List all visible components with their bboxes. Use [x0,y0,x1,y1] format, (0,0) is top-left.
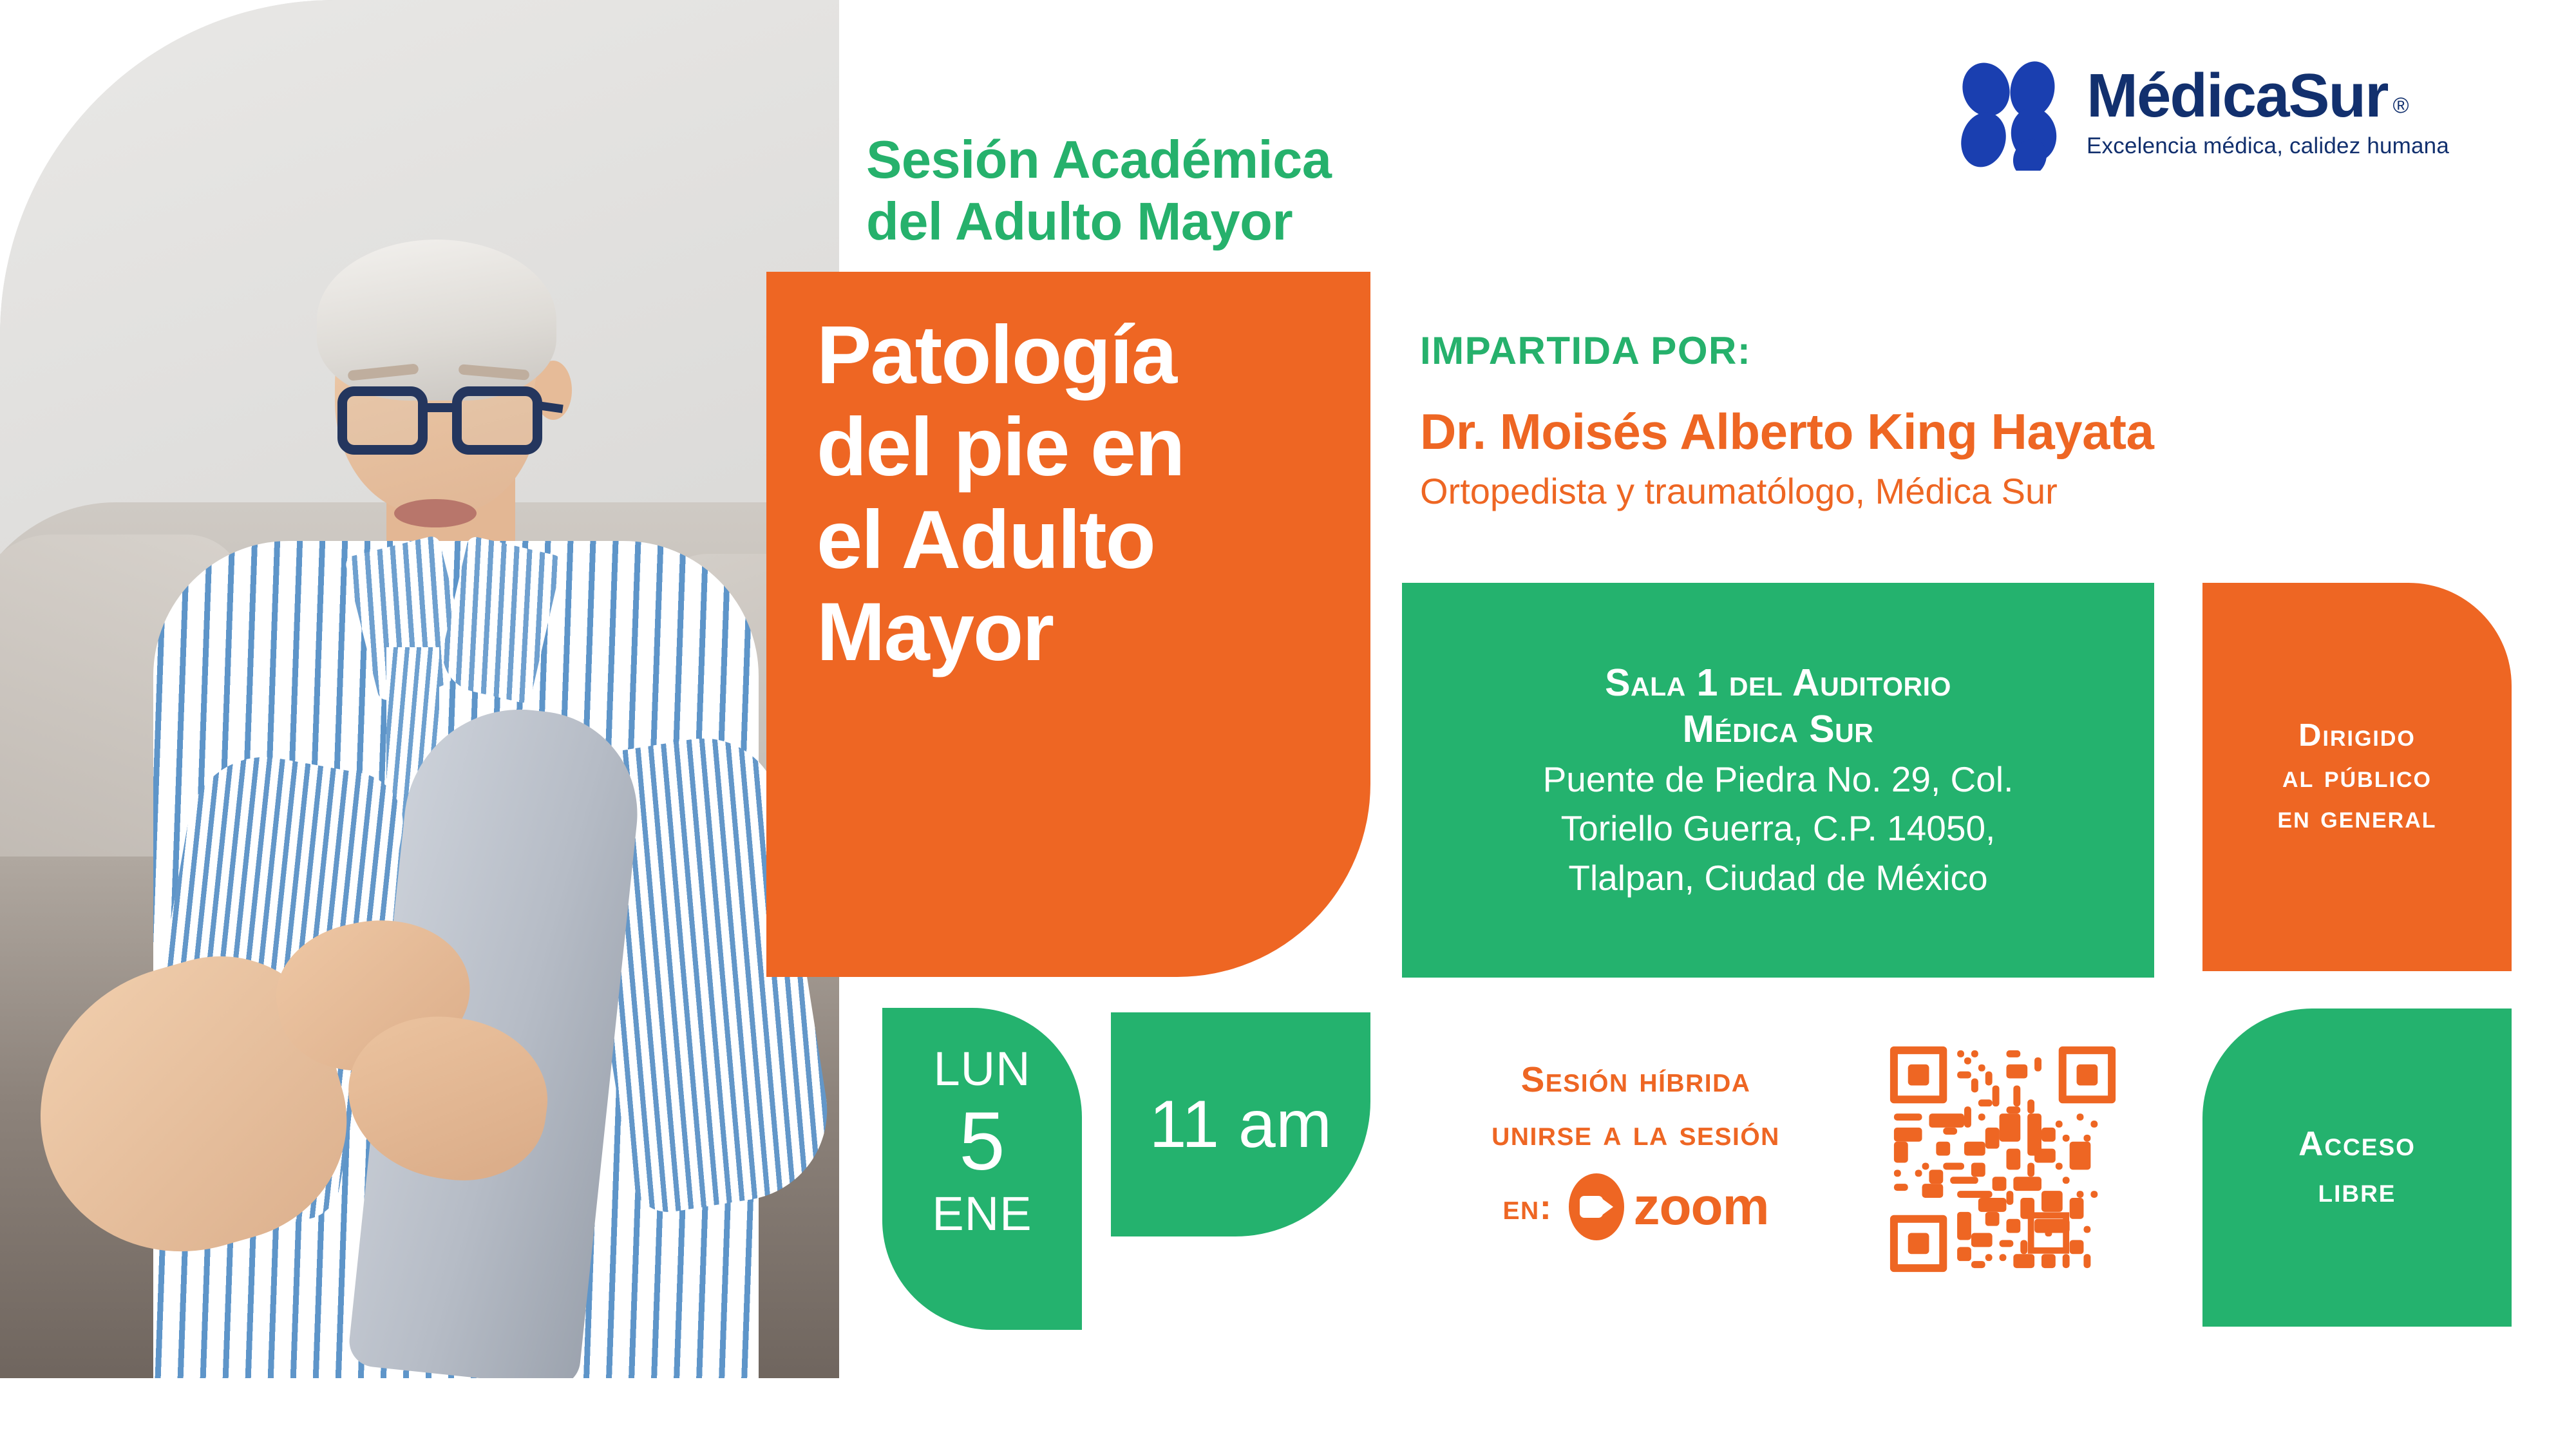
event-title-line-2: del pie en [817,401,1338,493]
zoom-row: en: zoom [1423,1173,1848,1240]
photo-lens-right [452,386,542,455]
hybrid-session-block: Sesión híbrida unirse a la sesión en: zo… [1423,1053,1848,1240]
series-title-line-1: Sesión Académica [866,129,1433,191]
audience-box: Dirigido al público en general [2202,583,2512,971]
access-text-block: Acceso libre [2298,1121,2416,1213]
event-title-line-3: el Adulto [817,494,1338,586]
series-title-line-2: del Adulto Mayor [866,191,1433,252]
zoom-logo[interactable]: zoom [1569,1173,1768,1240]
date-month: ENE [882,1190,1082,1238]
camera-lens [1601,1198,1613,1216]
hybrid-line-1: Sesión híbrida [1423,1053,1848,1106]
venue-address-line-1: Puente de Piedra No. 29, Col. [1424,757,2132,802]
venue-room-line-1: Sala 1 del Auditorio [1424,660,2132,706]
camera-glyph [1580,1196,1613,1218]
date-badge: LUN 5 ENE [882,1008,1082,1330]
qr-code-icon[interactable] [1887,1043,2119,1275]
hybrid-prefix: en: [1502,1186,1552,1227]
time-badge: 11 am [1111,1012,1370,1236]
logo-wordmark: MédicaSur [2087,65,2387,127]
zoom-wordmark: zoom [1633,1177,1768,1237]
zoom-camera-icon [1569,1173,1624,1240]
photo-eyeglasses [337,386,545,457]
audience-line-1: Dirigido [2277,715,2436,757]
speaker-name: Dr. Moisés Alberto King Hayata [1420,402,2193,461]
venue-text-block: Sala 1 del Auditorio Médica Sur Puente d… [1402,660,2154,900]
time-value: 11 am [1150,1086,1332,1163]
venue-address-line-2: Toriello Guerra, C.P. 14050, [1424,806,2132,851]
four-petal-flower-icon [1958,61,2067,171]
speaker-label: IMPARTIDA POR: [1420,328,1751,373]
speaker-role: Ortopedista y traumatólogo, Médica Sur [1420,470,2193,512]
audience-text-block: Dirigido al público en general [2266,715,2448,838]
access-box: Acceso libre [2202,1009,2512,1327]
venue-box: Sala 1 del Auditorio Médica Sur Puente d… [1402,583,2154,978]
hybrid-line-2[interactable]: unirse a la sesión [1423,1106,1848,1160]
logo-tagline: Excelencia médica, calidez humana [2087,133,2512,159]
access-line-2: libre [2298,1168,2416,1214]
audience-line-3: en general [2277,797,2436,838]
photo-lens-left [337,386,428,455]
date-day-number: 5 [882,1093,1082,1190]
venue-room-line-2: Médica Sur [1424,706,2132,753]
logo-text-block: MédicaSur® Excelencia médica, calidez hu… [2087,65,2512,159]
date-day-of-week: LUN [882,1045,1082,1093]
event-title-panel: Patología del pie en el Adulto Mayor [766,272,1370,977]
access-line-1: Acceso [2298,1121,2416,1168]
event-title-line-1: Patología [817,309,1338,401]
venue-address-line-3: Tlalpan, Ciudad de México [1424,855,2132,900]
camera-body [1580,1196,1603,1218]
photo-glasses-bridge [428,403,455,412]
medica-sur-logo: MédicaSur® Excelencia médica, calidez hu… [1958,61,2512,177]
registered-trademark-icon: ® [2392,93,2409,118]
series-title: Sesión Académica del Adulto Mayor [866,129,1433,253]
event-title-line-4: Mayor [817,586,1338,678]
hero-photo [0,0,839,1378]
event-title: Patología del pie en el Adulto Mayor [817,309,1338,678]
audience-line-2: al público [2277,757,2436,798]
photo-mouth [394,499,477,527]
